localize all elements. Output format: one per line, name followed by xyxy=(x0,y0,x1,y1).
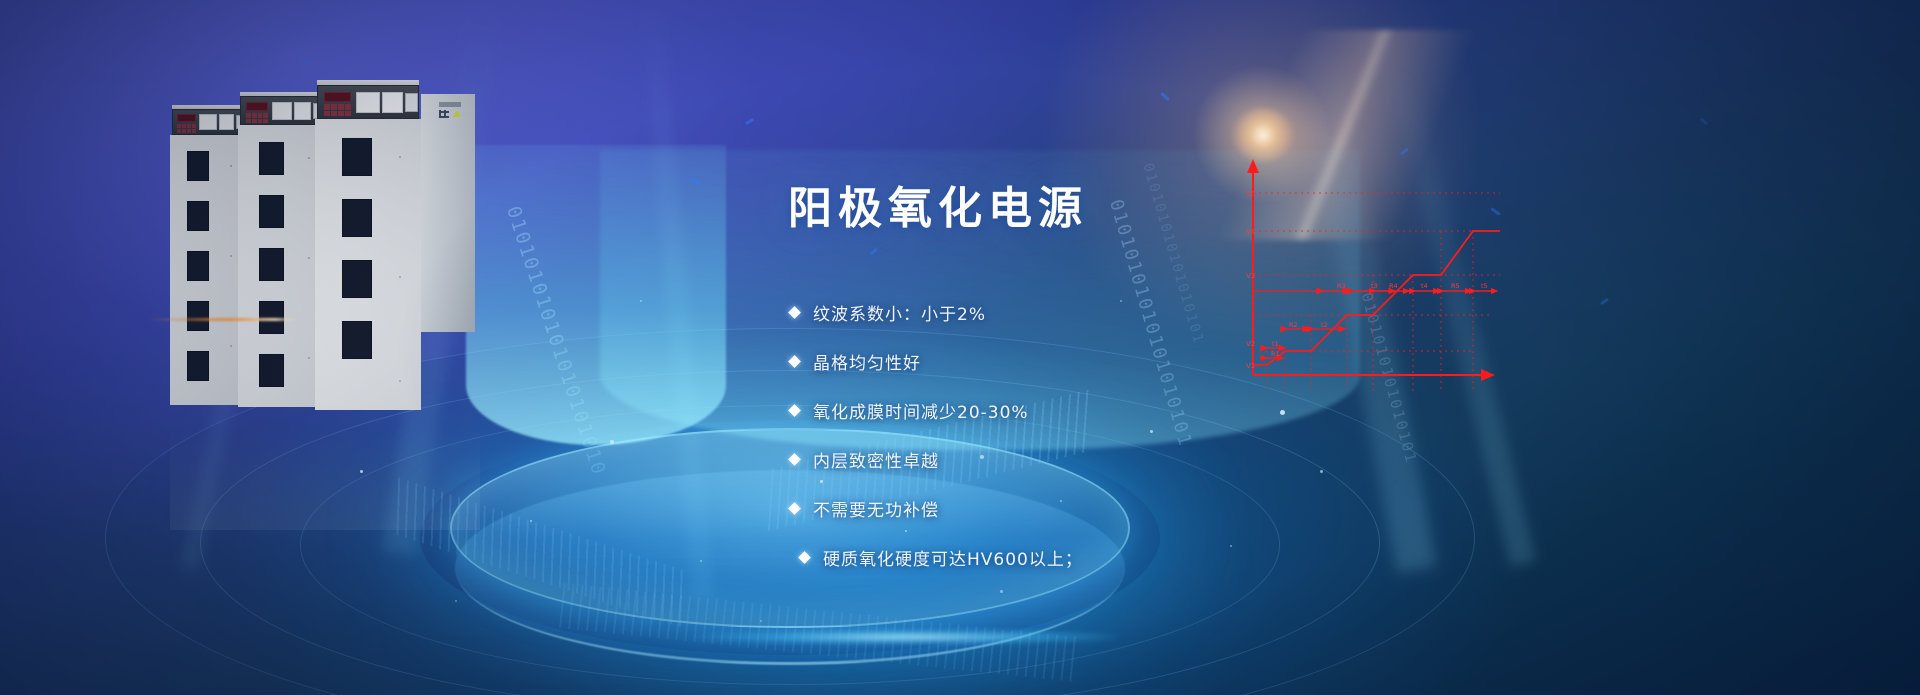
cabinet-display-left xyxy=(177,114,196,122)
svg-text:V1: V1 xyxy=(1246,362,1255,370)
diamond-bullet-icon xyxy=(798,551,811,564)
svg-text:R4: R4 xyxy=(1389,282,1398,290)
list-item: 不需要无功补偿 xyxy=(790,484,1350,533)
chart-annotation-labels: R1 t1 R2 t2 R3 t3 R4 t4 R5 t5 xyxy=(1271,282,1488,358)
svg-text:t3: t3 xyxy=(1371,282,1378,290)
svg-text:V3: V3 xyxy=(1246,272,1255,280)
chart-segment-arrows xyxy=(1267,291,1395,358)
list-item-label: 不需要无功补偿 xyxy=(813,496,939,521)
diamond-bullet-icon xyxy=(788,355,801,368)
page-title: 阳极氧化电源 xyxy=(788,172,1088,236)
svg-text:t1: t1 xyxy=(1272,340,1279,348)
list-item-label: 氧化成膜时间减少20-30% xyxy=(813,398,1029,423)
chart-y-tick-labels: V1 V2 V3 V4 V5 xyxy=(1246,190,1256,370)
orange-light-streak xyxy=(148,318,298,321)
svg-text:V2: V2 xyxy=(1246,340,1255,348)
list-item: 硬质氧化硬度可达HV600以上； xyxy=(790,533,1350,582)
list-item-label: 晶格均匀性好 xyxy=(813,349,921,374)
list-item: 内层致密性卓越 xyxy=(790,435,1350,484)
warning-triangle-icon xyxy=(453,110,461,117)
svg-text:R3: R3 xyxy=(1337,282,1346,290)
banner-stage: 010101010101010101010 010101010101010101… xyxy=(0,0,1920,695)
svg-text:t4: t4 xyxy=(1421,282,1428,290)
diamond-bullet-icon xyxy=(788,306,801,319)
list-item-label: 硬质氧化硬度可达HV600以上； xyxy=(823,545,1083,570)
chart-vertical-guides xyxy=(1267,231,1473,391)
diamond-bullet-icon xyxy=(788,404,801,417)
cabinet-reflection xyxy=(170,410,480,530)
cabinet-nameplate xyxy=(439,102,461,107)
svg-text:R2: R2 xyxy=(1289,321,1298,329)
cabinet-indicator-dots xyxy=(439,110,449,118)
diamond-bullet-icon xyxy=(788,502,801,515)
power-supply-cabinets xyxy=(170,80,500,460)
diamond-bullet-icon xyxy=(788,453,801,466)
chart-svg: V1 V2 V3 V4 V5 xyxy=(1245,155,1505,395)
list-item-label: 内层致密性卓越 xyxy=(813,447,939,472)
stage-light-cone xyxy=(466,145,726,445)
cabinet-right xyxy=(315,80,475,410)
svg-text:V4: V4 xyxy=(1246,228,1256,236)
cabinet-display-right xyxy=(324,92,351,102)
list-item-label: 纹波系数小：小于2% xyxy=(813,300,986,325)
svg-text:V5: V5 xyxy=(1246,190,1255,198)
svg-text:t5: t5 xyxy=(1481,282,1488,290)
svg-text:R5: R5 xyxy=(1451,282,1460,290)
svg-text:R1: R1 xyxy=(1271,350,1280,358)
voltage-ramp-chart: V1 V2 V3 V4 V5 xyxy=(1245,155,1505,395)
cabinet-display-middle xyxy=(246,102,268,111)
svg-text:t2: t2 xyxy=(1321,321,1328,329)
chart-line-series xyxy=(1253,231,1500,365)
podium-highlight xyxy=(690,630,1120,644)
